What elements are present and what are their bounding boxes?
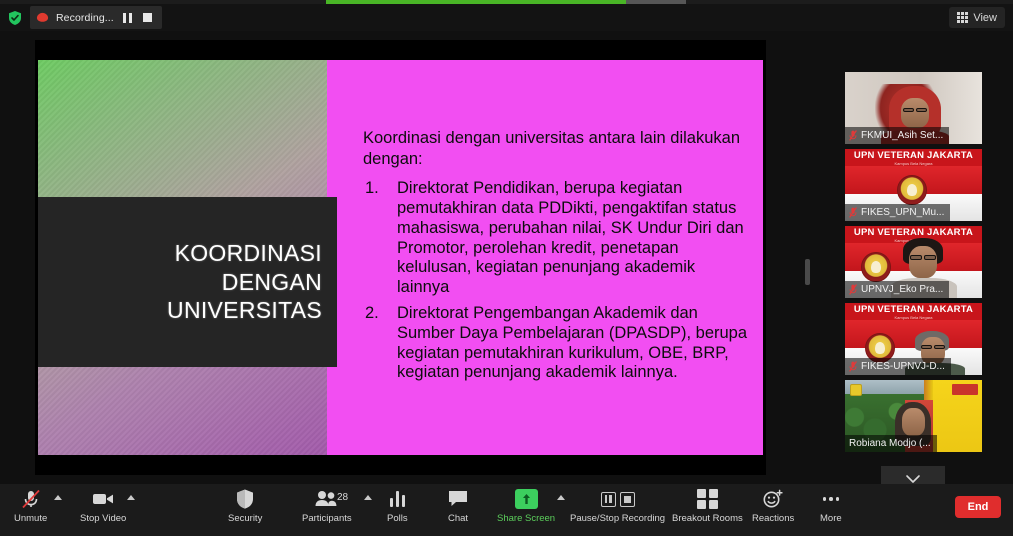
recording-label: Recording... (56, 12, 114, 24)
unmute-button[interactable]: Unmute (14, 488, 47, 524)
participants-label: Participants (302, 513, 352, 524)
end-meeting-button[interactable]: End (955, 496, 1001, 518)
microphone-muted-icon (20, 488, 42, 510)
recording-indicator: Recording... (30, 6, 162, 29)
participant-name-badge: FIKES_UPN_Mu... (845, 204, 950, 221)
meeting-toolbar: Unmute Stop Video Security (0, 484, 1013, 536)
slide-list-item: 1. Direktorat Pendidikan, berupa kegiata… (363, 179, 748, 298)
slide-list-item-text: Direktorat Pengembangan Akademik dan Sum… (397, 304, 747, 381)
slide-list-item-text: Direktorat Pendidikan, berupa kegiatan p… (397, 179, 744, 296)
upload-arrow-icon (515, 488, 538, 510)
slide-title-card: KOORDINASI DENGAN UNIVERSITAS (38, 197, 337, 367)
speech-bubble-icon (447, 488, 469, 510)
chat-label: Chat (448, 513, 468, 524)
slide-title-line-3: UNIVERSITAS (167, 296, 322, 325)
participants-count: 28 (337, 492, 348, 503)
participant-name: FIKES_UPN_Mu... (861, 207, 944, 218)
slide-title: KOORDINASI DENGAN UNIVERSITAS (167, 239, 322, 325)
stop-video-label: Stop Video (80, 513, 126, 524)
recording-label: Pause/Stop Recording (570, 513, 665, 524)
shared-screen-stage[interactable]: KOORDINASI DENGAN UNIVERSITAS Koordinasi… (35, 40, 766, 475)
university-logo-icon (897, 175, 927, 205)
view-button-label: View (973, 12, 997, 24)
recording-dot-icon (36, 11, 49, 24)
security-label: Security (228, 513, 262, 524)
slide-body: Koordinasi dengan universitas antara lai… (363, 128, 748, 389)
chat-button[interactable]: Chat (447, 488, 469, 524)
ellipsis-icon (823, 488, 840, 510)
polls-button[interactable]: Polls (387, 488, 408, 524)
audio-options-caret[interactable] (54, 495, 62, 500)
logo-badge-icon (850, 384, 862, 396)
banner-strip: UPN VETERAN JAKARTA Kampus Bela Negara (845, 303, 982, 320)
slide-list-item-number: 1. (365, 179, 379, 199)
grid-icon (957, 12, 968, 23)
top-bar: Recording... View (0, 4, 1013, 31)
participant-tile[interactable]: UPN VETERAN JAKARTA Kampus Bela Negara U… (845, 226, 982, 298)
recording-pause-button[interactable] (121, 11, 134, 24)
recording-stop-button[interactable] (141, 11, 154, 24)
smiley-plus-icon (762, 488, 784, 510)
participant-tile[interactable]: Robiana Modjo (... (845, 380, 982, 452)
participants-options-caret[interactable] (364, 495, 372, 500)
slide-list-item-number: 2. (365, 304, 379, 324)
participant-tile[interactable]: UPN VETERAN JAKARTA Kampus Bela Negara F… (845, 303, 982, 375)
bar-chart-icon (390, 488, 406, 510)
more-button[interactable]: More (820, 488, 842, 524)
recording-controls-icon (601, 488, 635, 510)
slide-lead-text: Koordinasi dengan universitas antara lai… (363, 128, 748, 170)
slide-title-line-1: KOORDINASI (167, 239, 322, 268)
participant-name: Robiana Modjo (... (849, 438, 931, 449)
participant-filmstrip: FKMUI_Asih Set... UPN VETERAN JAKARTA Ka… (845, 72, 982, 457)
four-squares-icon (697, 488, 718, 510)
polls-label: Polls (387, 513, 408, 524)
zoom-meeting-window: Recording... View KOORDINASI DENGAN UNIV… (0, 0, 1013, 536)
participant-name-badge: UPNVJ_Eko Pra... (845, 281, 949, 298)
reactions-label: Reactions (752, 513, 794, 524)
encryption-shield-icon[interactable] (6, 9, 23, 26)
stop-icon[interactable] (620, 492, 635, 507)
camera-icon (91, 488, 115, 510)
unmute-label: Unmute (14, 513, 47, 524)
presentation-slide: KOORDINASI DENGAN UNIVERSITAS Koordinasi… (38, 60, 763, 455)
shield-icon (235, 488, 255, 510)
more-label: More (820, 513, 842, 524)
participant-name-badge: FIKES-UPNVJ-D... (845, 358, 951, 375)
slide-list-item: 2. Direktorat Pengembangan Akademik dan … (363, 304, 748, 383)
people-icon (314, 488, 340, 510)
security-button[interactable]: Security (228, 488, 262, 524)
slide-list: 1. Direktorat Pendidikan, berupa kegiata… (363, 179, 748, 383)
share-options-caret[interactable] (557, 495, 565, 500)
share-screen-button[interactable]: Share Screen (497, 488, 555, 524)
share-screen-label: Share Screen (497, 513, 555, 524)
banner-badge-icon (952, 384, 978, 395)
participant-name: UPNVJ_Eko Pra... (861, 284, 943, 295)
participant-name-badge: Robiana Modjo (... (845, 435, 937, 452)
banner-strip: UPN VETERAN JAKARTA Kampus Bela Negara (845, 149, 982, 166)
participant-tile[interactable]: FKMUI_Asih Set... (845, 72, 982, 144)
slide-title-line-2: DENGAN (167, 268, 322, 297)
chevron-down-icon (905, 474, 921, 484)
participant-name: FIKES-UPNVJ-D... (861, 361, 945, 372)
breakout-rooms-button[interactable]: Breakout Rooms (672, 488, 743, 524)
microphone-muted-icon (849, 361, 857, 372)
video-options-caret[interactable] (127, 495, 135, 500)
university-logo-icon (861, 252, 891, 282)
pause-icon[interactable] (601, 492, 616, 507)
participant-name-badge: FKMUI_Asih Set... (845, 127, 949, 144)
view-button[interactable]: View (949, 7, 1005, 28)
pause-stop-recording-button[interactable]: Pause/Stop Recording (570, 488, 665, 524)
participant-tile[interactable]: UPN VETERAN JAKARTA Kampus Bela Negara F… (845, 149, 982, 221)
end-label: End (968, 501, 989, 513)
participant-name: FKMUI_Asih Set... (861, 130, 943, 141)
microphone-muted-icon (849, 130, 857, 141)
microphone-muted-icon (849, 207, 857, 218)
breakout-rooms-label: Breakout Rooms (672, 513, 743, 524)
microphone-muted-icon (849, 284, 857, 295)
filmstrip-drag-handle[interactable] (805, 259, 810, 285)
reactions-button[interactable]: Reactions (752, 488, 794, 524)
stop-video-button[interactable]: Stop Video (80, 488, 126, 524)
